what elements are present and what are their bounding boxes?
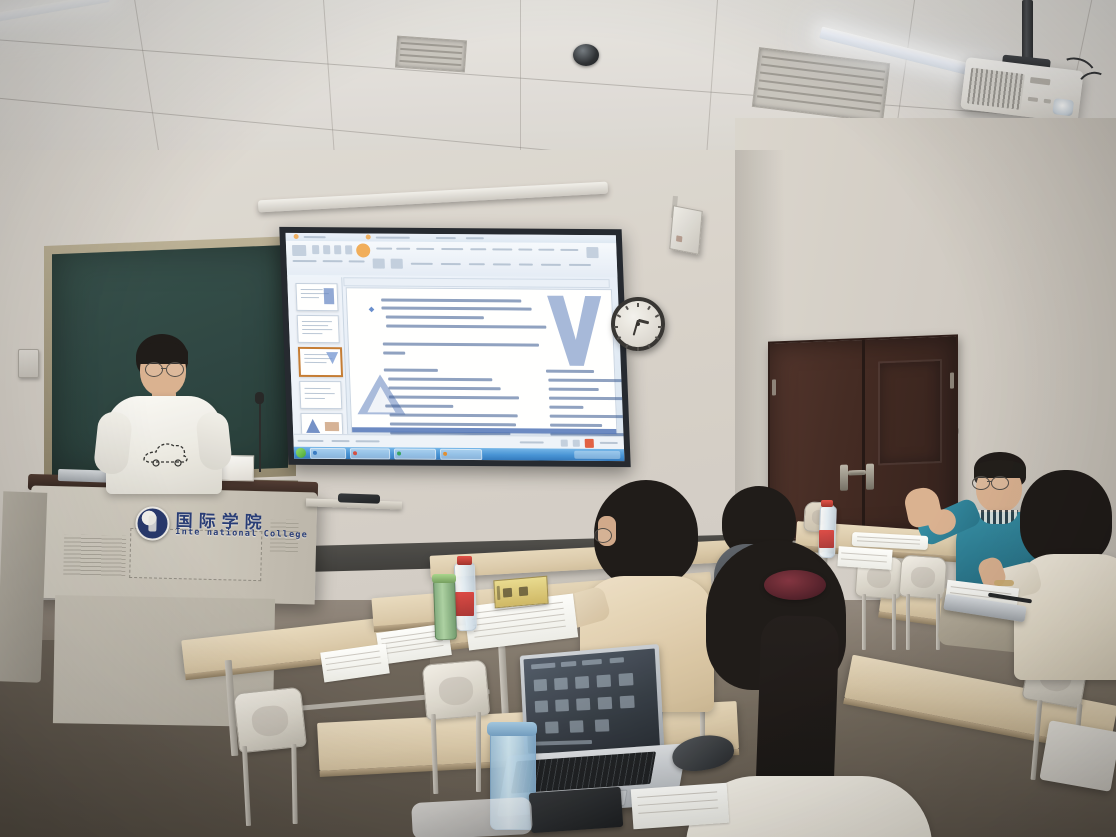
tshirt-graphic-icon: [138, 434, 192, 468]
bottle-label: [455, 592, 474, 616]
laptop-screen[interactable]: [524, 648, 661, 753]
projection-screen: [279, 227, 630, 467]
document-right[interactable]: [837, 546, 892, 570]
wall-clock: [611, 297, 665, 351]
classroom-scene: 国际学院 Inte national College: [0, 0, 1116, 837]
lectern-side-panel: [0, 491, 47, 682]
taskbar-item[interactable]: [310, 448, 346, 459]
green-tumbler[interactable]: [433, 580, 457, 641]
taskbar-item[interactable]: [350, 448, 390, 459]
hair-scrunchie: [764, 570, 826, 600]
door-handle-right[interactable]: [866, 464, 874, 490]
table-name-card: [493, 576, 548, 609]
laptop-right-foreground[interactable]: [1039, 720, 1116, 792]
door-handle-left[interactable]: [840, 465, 848, 491]
tumbler-lid: [432, 574, 456, 583]
ceiling-air-vent: [395, 36, 467, 73]
speaker-man-glasses: [972, 476, 990, 490]
lectern: 国际学院 Inte national College: [29, 486, 318, 605]
projected-desktop: [285, 233, 624, 461]
bottle-cap: [457, 556, 472, 565]
wall-speaker: [669, 205, 702, 255]
wall-light-switch[interactable]: [18, 349, 39, 378]
windows-taskbar[interactable]: [294, 447, 625, 461]
blue-bottle-lid: [487, 722, 537, 736]
slide-canvas[interactable]: [346, 287, 618, 435]
note-taker-glasses: [594, 528, 612, 543]
remote-control[interactable]: [338, 493, 380, 503]
thumbnail-selected[interactable]: [298, 347, 343, 377]
laptop-lid: [520, 644, 665, 757]
slide-thumbnail-pane[interactable]: [287, 277, 348, 435]
attendee-4-hair: [1020, 470, 1112, 566]
smoke-detector-icon: [573, 44, 599, 66]
podium-microphone: [252, 392, 268, 472]
document-foreground[interactable]: [631, 783, 730, 830]
chevron-decoration-icon: [543, 294, 608, 368]
taskbar-item[interactable]: [394, 448, 436, 459]
plastic-bag: [411, 797, 533, 837]
smartphone[interactable]: [529, 787, 624, 833]
door-panel-right: [878, 359, 942, 465]
presenter-glasses: [145, 362, 163, 377]
projector-mount-pole: [1022, 0, 1033, 62]
taskbar-item[interactable]: [440, 449, 482, 460]
